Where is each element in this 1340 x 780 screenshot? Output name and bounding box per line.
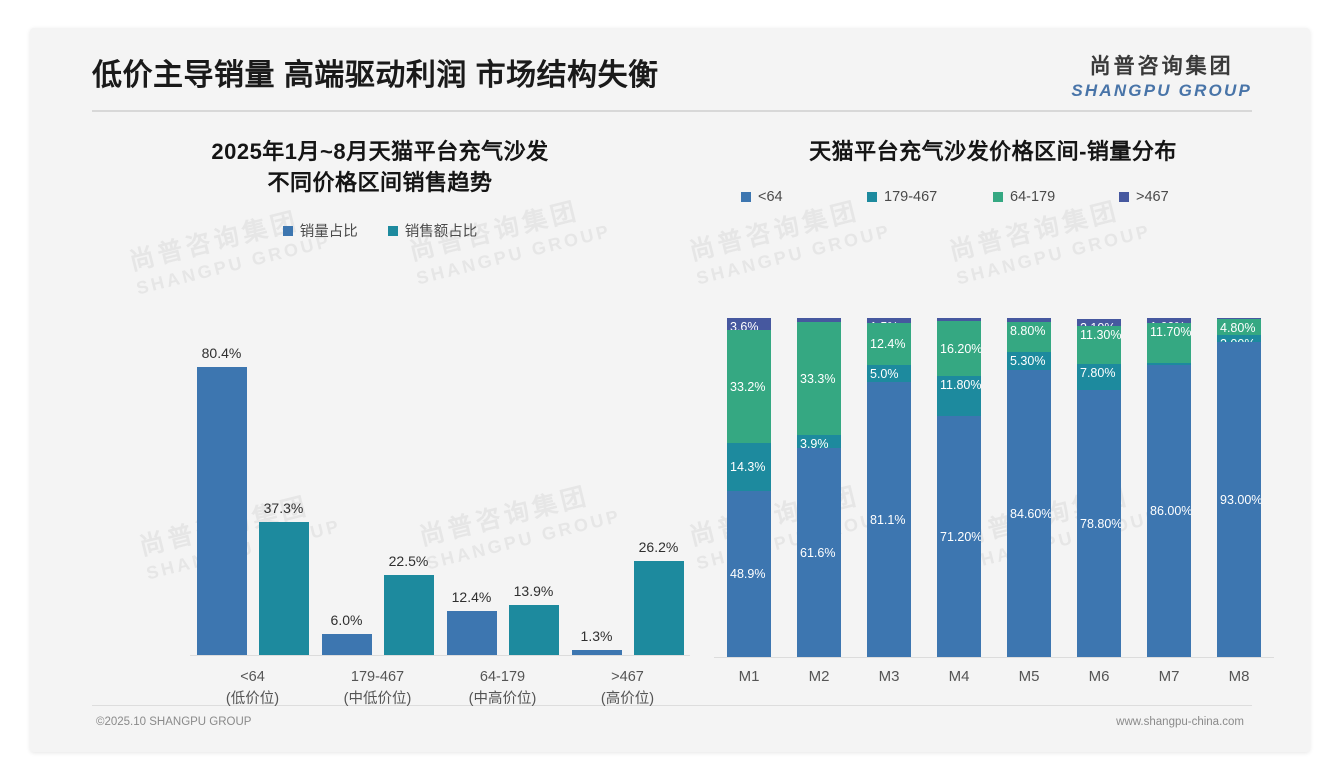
- segment-value-label: 11.80%: [940, 378, 981, 392]
- bar-column[interactable]: 37.3%: [259, 326, 309, 655]
- page-title: 低价主导销量 高端驱动利润 市场结构失衡: [92, 50, 659, 94]
- logo-english-text: SHANGPU GROUP: [1071, 82, 1252, 99]
- bar-group: 80.4%37.3%: [190, 326, 315, 655]
- left-chart-title-line1: 2025年1月~8月天猫平台充气沙发: [70, 136, 690, 167]
- x-axis-label: M3: [854, 668, 924, 685]
- x-axis-label: M1: [714, 668, 784, 685]
- stacked-bar-segment[interactable]: 11.30%: [1077, 326, 1121, 364]
- slide-header: 低价主导销量 高端驱动利润 市场结构失衡 尚普咨询集团 SHANGPU GROU…: [30, 28, 1310, 116]
- stacked-bar-segment[interactable]: 81.1%: [867, 382, 911, 657]
- stacked-bar-column[interactable]: 1.60%11.70%0.70%86.00%: [1134, 318, 1204, 657]
- bar[interactable]: [197, 367, 247, 655]
- segment-value-label: 48.9%: [730, 567, 765, 581]
- bar[interactable]: [384, 575, 434, 655]
- bar-value-label: 80.4%: [202, 345, 242, 361]
- x-axis-label-tier: (低价位): [190, 688, 315, 710]
- right-chart-x-axis-labels: M1M2M3M4M5M6M7M8: [714, 668, 1274, 685]
- x-axis-label-range: >467: [565, 666, 690, 688]
- bar[interactable]: [322, 634, 372, 655]
- legend-item[interactable]: >467: [1119, 189, 1245, 205]
- legend-swatch-icon: [388, 226, 398, 236]
- segment-value-label: 33.3%: [800, 372, 835, 386]
- stacked-bar[interactable]: 2.10%11.30%7.80%78.80%: [1077, 318, 1121, 657]
- legend-label: >467: [1136, 189, 1169, 205]
- stacked-bar-segment[interactable]: 33.2%: [727, 330, 771, 443]
- legend-swatch-icon: [283, 226, 293, 236]
- segment-value-label: 71.20%: [940, 530, 981, 544]
- logo-chinese-text: 尚普咨询集团: [1071, 56, 1252, 77]
- x-axis-label: M2: [784, 668, 854, 685]
- segment-value-label: 12.4%: [870, 337, 905, 351]
- segment-value-label: 4.80%: [1220, 321, 1255, 335]
- x-axis-label: M8: [1204, 668, 1274, 685]
- legend-item[interactable]: 179-467: [867, 189, 993, 205]
- left-chart-x-axis-labels: <64(低价位)179-467(中低价位)64-179(中高价位)>467(高价…: [190, 666, 690, 711]
- stacked-bar-segment[interactable]: 16.20%: [937, 321, 981, 376]
- stacked-bar[interactable]: 1.2%33.3%3.9%61.6%: [797, 318, 841, 657]
- segment-value-label: 7.80%: [1080, 366, 1115, 380]
- stacked-bar[interactable]: 0.80%16.20%11.80%71.20%: [937, 318, 981, 657]
- x-axis-label-range: 179-467: [315, 666, 440, 688]
- right-chart-axis-line: [714, 657, 1274, 658]
- x-axis-label-tier: (中高价位): [440, 688, 565, 710]
- right-chart-legend: <64179-46764-179>467: [698, 189, 1288, 205]
- left-bar-groups: 80.4%37.3%6.0%22.5%12.4%13.9%1.3%26.2%: [190, 326, 690, 655]
- bar-column[interactable]: 22.5%: [384, 326, 434, 655]
- segment-value-label: 11.30%: [1080, 328, 1121, 342]
- segment-value-label: 61.6%: [800, 546, 835, 560]
- segment-value-label: 16.20%: [940, 342, 981, 356]
- stacked-bar-segment[interactable]: 71.20%: [937, 416, 981, 657]
- stacked-bar-segment[interactable]: 48.9%: [727, 491, 771, 657]
- legend-item[interactable]: 64-179: [993, 189, 1119, 205]
- legend-item[interactable]: 销量占比: [283, 220, 358, 241]
- legend-label: 销售额占比: [405, 220, 478, 241]
- stacked-bar[interactable]: 0.20%4.80%2.00%93.00%: [1217, 318, 1261, 657]
- segment-value-label: 5.30%: [1010, 354, 1045, 368]
- legend-label: 64-179: [1010, 189, 1055, 205]
- bar-group: 1.3%26.2%: [565, 326, 690, 655]
- left-chart-title-line2: 不同价格区间销售趋势: [70, 167, 690, 198]
- segment-value-label: 33.2%: [730, 380, 765, 394]
- stacked-bar[interactable]: 1.30%8.80%5.30%84.60%: [1007, 318, 1051, 657]
- legend-label: <64: [758, 189, 783, 205]
- stacked-bar-segment[interactable]: 7.80%: [1077, 364, 1121, 390]
- x-axis-label: M6: [1064, 668, 1134, 685]
- x-axis-label-range: <64: [190, 666, 315, 688]
- legend-swatch-icon: [1119, 192, 1129, 202]
- footer-website: www.shangpu-china.com: [1116, 716, 1244, 728]
- stacked-bar-segment[interactable]: 78.80%: [1077, 390, 1121, 657]
- stacked-bar[interactable]: 1.5%12.4%5.0%81.1%: [867, 318, 911, 657]
- right-chart-title: 天猫平台充气沙发价格区间-销量分布: [698, 136, 1288, 167]
- x-axis-label: M4: [924, 668, 994, 685]
- left-bar-chart: 80.4%37.3%6.0%22.5%12.4%13.9%1.3%26.2% <…: [140, 326, 690, 656]
- segment-value-label: 93.00%: [1220, 493, 1261, 507]
- bar-value-label: 12.4%: [452, 589, 492, 605]
- bar-group: 12.4%13.9%: [440, 326, 565, 655]
- x-axis-label-range: 64-179: [440, 666, 565, 688]
- bar-value-label: 1.3%: [581, 628, 613, 644]
- company-logo: 尚普咨询集团 SHANGPU GROUP: [1071, 56, 1252, 99]
- stacked-bar-column[interactable]: 1.30%8.80%5.30%84.60%: [994, 318, 1064, 657]
- left-chart-panel: 2025年1月~8月天猫平台充气沙发 不同价格区间销售趋势 销量占比销售额占比 …: [70, 136, 690, 706]
- slide: 低价主导销量 高端驱动利润 市场结构失衡 尚普咨询集团 SHANGPU GROU…: [30, 28, 1310, 752]
- segment-value-label: 5.0%: [870, 367, 899, 381]
- stacked-bar-column[interactable]: 0.20%4.80%2.00%93.00%: [1204, 318, 1274, 657]
- legend-swatch-icon: [741, 192, 751, 202]
- x-axis-label: 64-179(中高价位): [440, 666, 565, 711]
- legend-item[interactable]: 销售额占比: [388, 220, 478, 241]
- bar-value-label: 26.2%: [639, 539, 679, 555]
- stacked-bar-segment[interactable]: 5.30%: [1007, 352, 1051, 370]
- stacked-bar-segment[interactable]: 86.00%: [1147, 365, 1191, 657]
- bar[interactable]: [509, 605, 559, 655]
- segment-value-label: 78.80%: [1080, 517, 1121, 531]
- stacked-bar-segment[interactable]: 12.4%: [867, 323, 911, 365]
- bar-column[interactable]: 6.0%: [322, 326, 372, 655]
- x-axis-label: M7: [1134, 668, 1204, 685]
- segment-value-label: 86.00%: [1150, 504, 1191, 518]
- stacked-bar-segment[interactable]: 8.80%: [1007, 322, 1051, 352]
- bar-value-label: 22.5%: [389, 553, 429, 569]
- left-chart-title: 2025年1月~8月天猫平台充气沙发 不同价格区间销售趋势: [70, 136, 690, 198]
- stacked-bar-segment[interactable]: 93.00%: [1217, 342, 1261, 657]
- bar-column[interactable]: 13.9%: [509, 326, 559, 655]
- bar-value-label: 6.0%: [331, 612, 363, 628]
- bar-column[interactable]: 1.3%: [572, 326, 622, 655]
- right-chart-panel: 天猫平台充气沙发价格区间-销量分布 <64179-46764-179>467 3…: [698, 136, 1288, 706]
- right-stacked-bar-chart: 3.6%33.2%14.3%48.9%1.2%33.3%3.9%61.6%1.5…: [714, 318, 1274, 658]
- segment-value-label: 81.1%: [870, 513, 905, 527]
- stacked-bar-column[interactable]: 3.6%33.2%14.3%48.9%: [714, 318, 784, 657]
- legend-item[interactable]: <64: [741, 189, 867, 205]
- stacked-bar[interactable]: 1.60%11.70%0.70%86.00%: [1147, 318, 1191, 657]
- x-axis-label: M5: [994, 668, 1064, 685]
- stacked-bar-segment[interactable]: 14.3%: [727, 443, 771, 491]
- stacked-bar-column[interactable]: 0.80%16.20%11.80%71.20%: [924, 318, 994, 657]
- segment-value-label: 11.70%: [1150, 325, 1191, 339]
- stacked-bar-segment[interactable]: 33.3%: [797, 322, 841, 435]
- bar[interactable]: [634, 561, 684, 655]
- stacked-bar-column[interactable]: 1.2%33.3%3.9%61.6%: [784, 318, 854, 657]
- stacked-bar-segment[interactable]: 4.80%: [1217, 319, 1261, 335]
- left-chart-legend: 销量占比销售额占比: [70, 220, 690, 241]
- bar-group: 6.0%22.5%: [315, 326, 440, 655]
- segment-value-label: 8.80%: [1010, 324, 1045, 338]
- segment-value-label: 84.60%: [1010, 507, 1051, 521]
- footer-copyright: ©2025.10 SHANGPU GROUP: [96, 716, 251, 728]
- legend-swatch-icon: [993, 192, 1003, 202]
- stacked-bar-segment[interactable]: 5.0%: [867, 365, 911, 382]
- bar[interactable]: [447, 611, 497, 655]
- stacked-bar-segment[interactable]: 11.70%: [1147, 323, 1191, 363]
- bar-value-label: 13.9%: [514, 583, 554, 599]
- stacked-bar-segment[interactable]: 3.6%: [727, 318, 771, 330]
- x-axis-label: <64(低价位): [190, 666, 315, 711]
- segment-value-label: 14.3%: [730, 460, 765, 474]
- stacked-bar[interactable]: 3.6%33.2%14.3%48.9%: [727, 318, 771, 657]
- stacked-bar-column[interactable]: 2.10%11.30%7.80%78.80%: [1064, 318, 1134, 657]
- left-chart-axis-line: [190, 655, 690, 656]
- bar-column[interactable]: 12.4%: [447, 326, 497, 655]
- stacked-bar-segment[interactable]: 2.10%: [1077, 319, 1121, 326]
- legend-label: 销量占比: [300, 220, 358, 241]
- stacked-bar-segment[interactable]: 2.00%: [1217, 335, 1261, 342]
- stacked-bar-segment[interactable]: 3.9%: [797, 435, 841, 448]
- stacked-bar-segment[interactable]: 84.60%: [1007, 370, 1051, 657]
- x-axis-label: >467(高价位): [565, 666, 690, 711]
- bar-value-label: 37.3%: [264, 500, 304, 516]
- stacked-bar-column[interactable]: 1.5%12.4%5.0%81.1%: [854, 318, 924, 657]
- bar[interactable]: [259, 522, 309, 655]
- bar-column[interactable]: 26.2%: [634, 326, 684, 655]
- stacked-bar-segment[interactable]: 61.6%: [797, 448, 841, 657]
- stacked-bar-segment[interactable]: 11.80%: [937, 376, 981, 416]
- legend-label: 179-467: [884, 189, 937, 205]
- x-axis-label: 179-467(中低价位): [315, 666, 440, 711]
- x-axis-label-tier: (高价位): [565, 688, 690, 710]
- bar-column[interactable]: 80.4%: [197, 326, 247, 655]
- legend-swatch-icon: [867, 192, 877, 202]
- right-bar-columns: 3.6%33.2%14.3%48.9%1.2%33.3%3.9%61.6%1.5…: [714, 318, 1274, 657]
- header-divider: [92, 110, 1252, 112]
- x-axis-label-tier: (中低价位): [315, 688, 440, 710]
